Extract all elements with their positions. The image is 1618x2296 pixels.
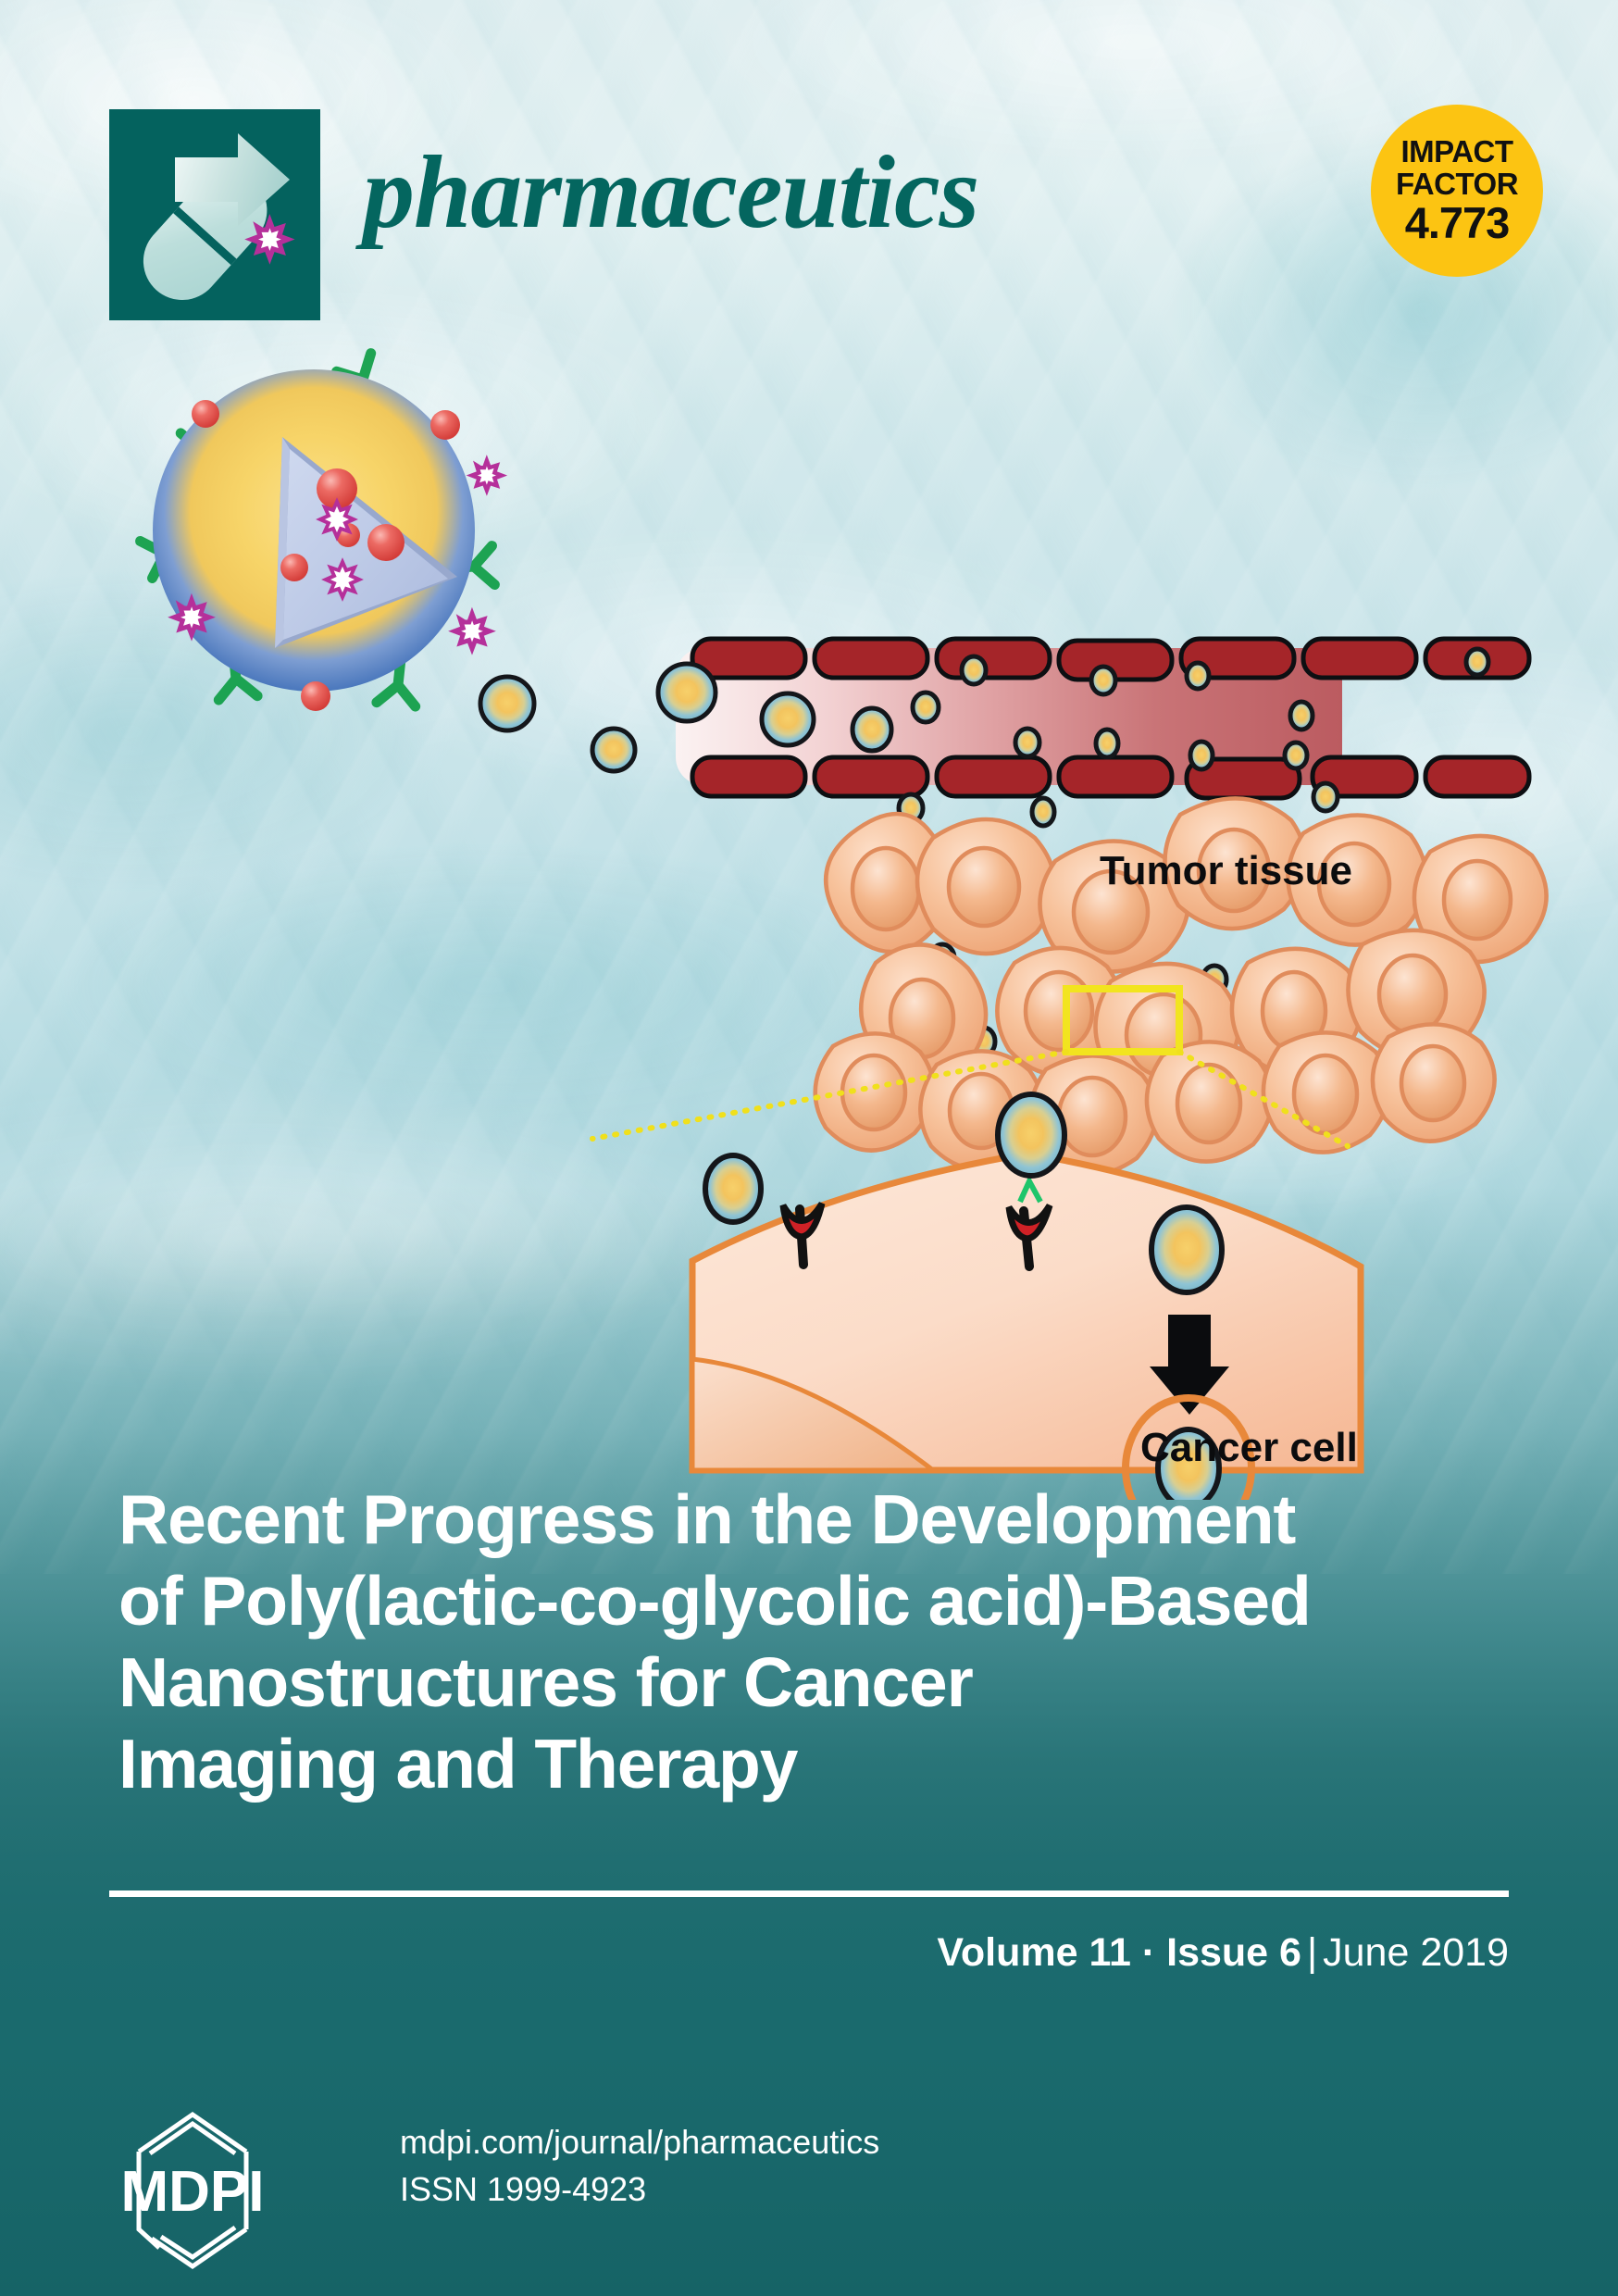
cover-illustration: Tumor tissue [0, 0, 1618, 1500]
issn-number: ISSN 1999-4923 [400, 2165, 879, 2213]
volume-label: Volume 11 [937, 1930, 1131, 1975]
issue-date: June 2019 [1323, 1930, 1509, 1975]
page-title: Recent Progress in the Development of Po… [118, 1479, 1525, 1805]
journal-cover: pharmaceutics IMPACT FACTOR 4.773 [0, 0, 1618, 2296]
footer-info: mdpi.com/journal/pharmaceutics ISSN 1999… [400, 2118, 879, 2213]
circulating-nanoparticles [480, 677, 635, 771]
issue-line: Volume 11 · Issue 6|June 2019 [937, 1930, 1509, 1976]
title-line-4: Imaging and Therapy [118, 1723, 1525, 1804]
issue-separator: | [1301, 1930, 1323, 1975]
title-line-1: Recent Progress in the Development [118, 1479, 1525, 1560]
title-line-2: of Poly(lactic-co-glycolic acid)-Based [118, 1560, 1525, 1641]
tumor-tissue-label: Tumor tissue [1100, 848, 1352, 893]
cancer-cell-label: Cancer cell [1140, 1425, 1358, 1470]
mdpi-logo-icon: MDPI [111, 2107, 342, 2278]
plga-nanoparticle-diagram [141, 221, 503, 711]
issue-label: Issue 6 [1166, 1930, 1301, 1975]
divider-rule [109, 1890, 1509, 1897]
title-line-3: Nanostructures for Cancer [118, 1641, 1525, 1723]
svg-text:MDPI: MDPI [121, 2160, 265, 2224]
journal-url[interactable]: mdpi.com/journal/pharmaceutics [400, 2118, 879, 2165]
issue-dot: · [1142, 1930, 1155, 1975]
